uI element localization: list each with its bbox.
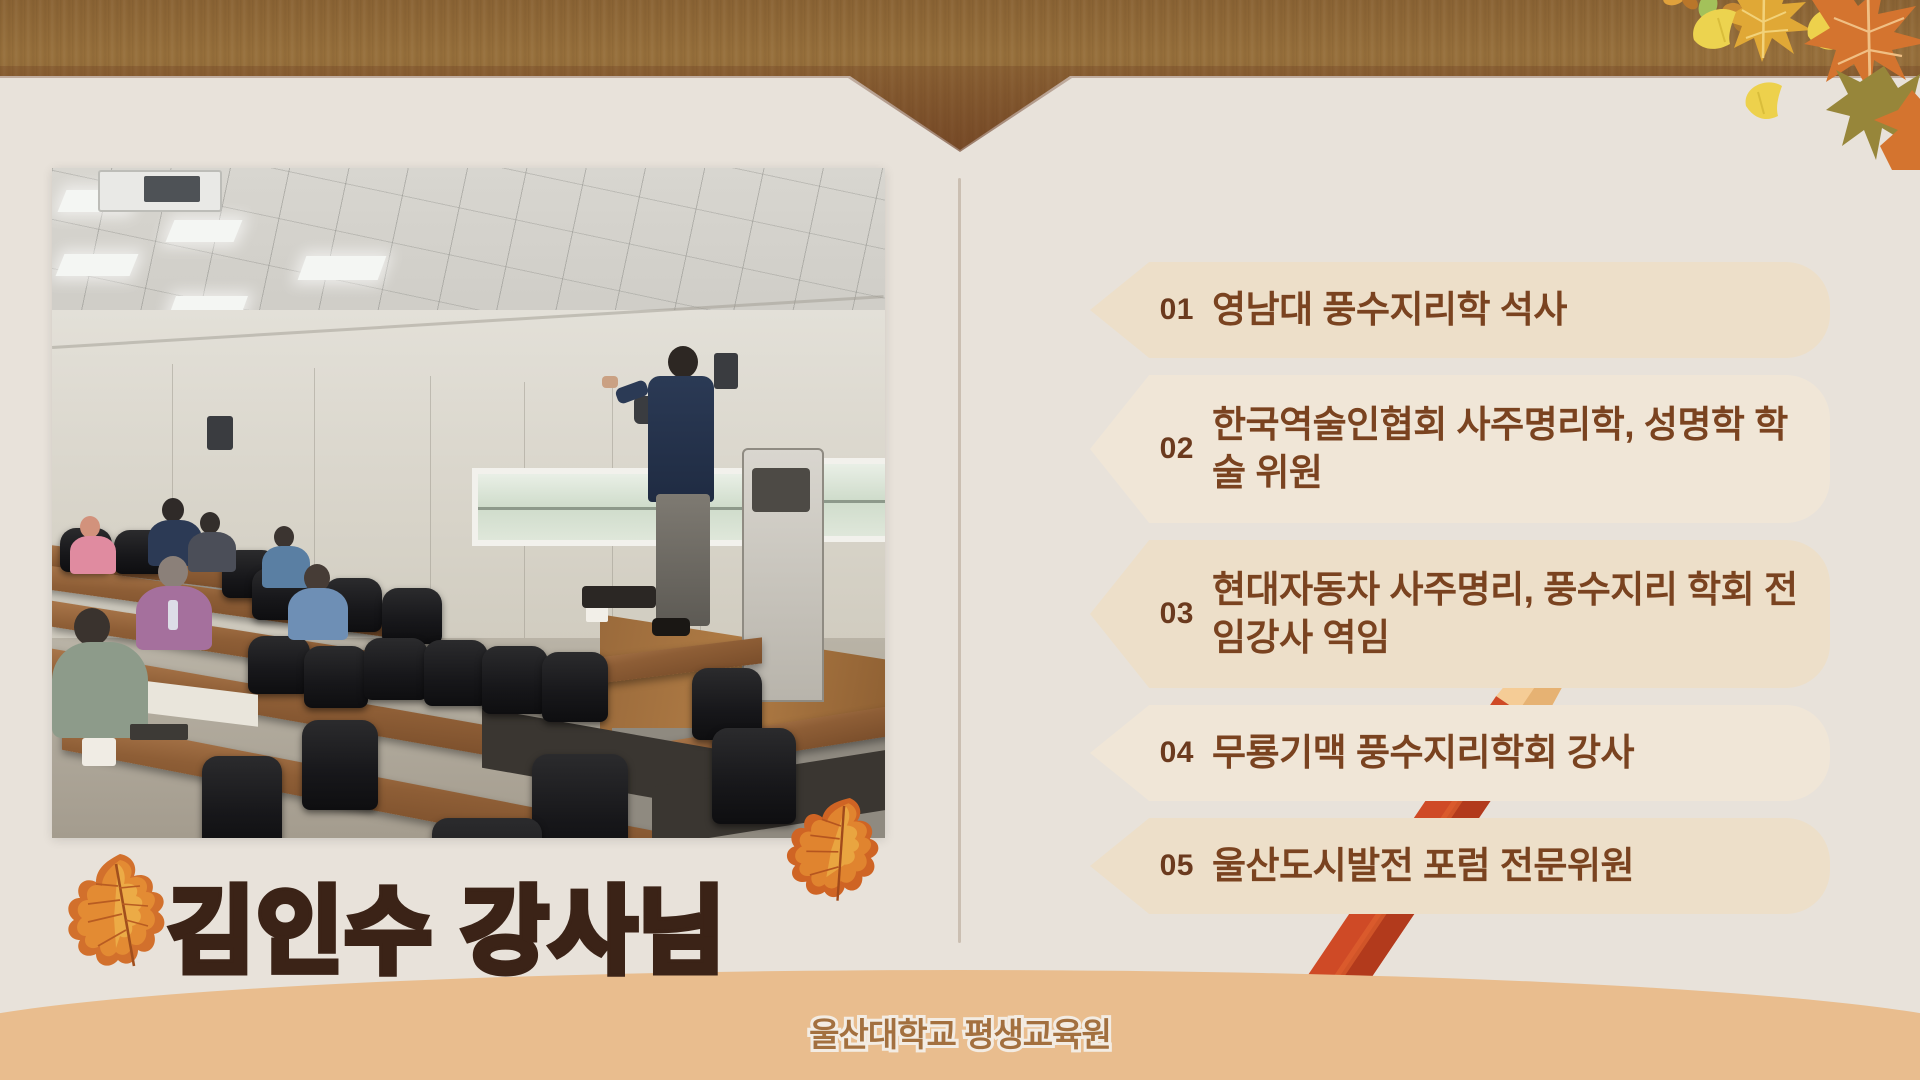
list-item[interactable]: 05 울산도시발전 포럼 전문위원: [1090, 818, 1830, 914]
list-item-number: 03: [1090, 597, 1212, 631]
list-item[interactable]: 04 무룡기맥 풍수지리학회 강사: [1090, 705, 1830, 801]
list-item-number: 05: [1090, 849, 1212, 883]
list-item-label: 영남대 풍수지리학 석사: [1212, 286, 1806, 334]
page-title: 김인수 강사님: [168, 856, 727, 992]
book-spine-divider: [958, 178, 961, 943]
lecturer-figure: [668, 346, 698, 378]
oak-leaf-icon: [58, 848, 178, 978]
list-item-number: 02: [1090, 432, 1212, 466]
list-item-label: 한국역술인협회 사주명리학, 성명학 학술 위원: [1212, 401, 1806, 497]
list-item-label: 울산도시발전 포럼 전문위원: [1212, 842, 1806, 890]
list-item-label: 현대자동차 사주명리, 풍수지리 학회 전임강사 역임: [1212, 566, 1806, 662]
speaker-icon: [207, 416, 233, 450]
autumn-leaves-cluster: [1630, 0, 1920, 170]
list-item-number: 01: [1090, 293, 1212, 327]
list-item[interactable]: 03 현대자동차 사주명리, 풍수지리 학회 전임강사 역임: [1090, 540, 1830, 688]
list-item-label: 무룡기맥 풍수지리학회 강사: [1212, 729, 1806, 777]
credentials-list: 01 영남대 풍수지리학 석사 02 한국역술인협회 사주명리학, 성명학 학술…: [1090, 262, 1830, 931]
lecture-hall-photo: [52, 168, 885, 838]
list-item[interactable]: 01 영남대 풍수지리학 석사: [1090, 262, 1830, 358]
footer-branding: 울산대학교 평생교육원: [0, 1008, 1920, 1056]
list-item-number: 04: [1090, 736, 1212, 770]
list-item[interactable]: 02 한국역술인협회 사주명리학, 성명학 학술 위원: [1090, 375, 1830, 523]
slide-root: 김인수 강사님 01 영남대 풍수지리학 석사 02 한국역술인협회: [0, 0, 1920, 1080]
speaker-icon: [714, 353, 738, 389]
